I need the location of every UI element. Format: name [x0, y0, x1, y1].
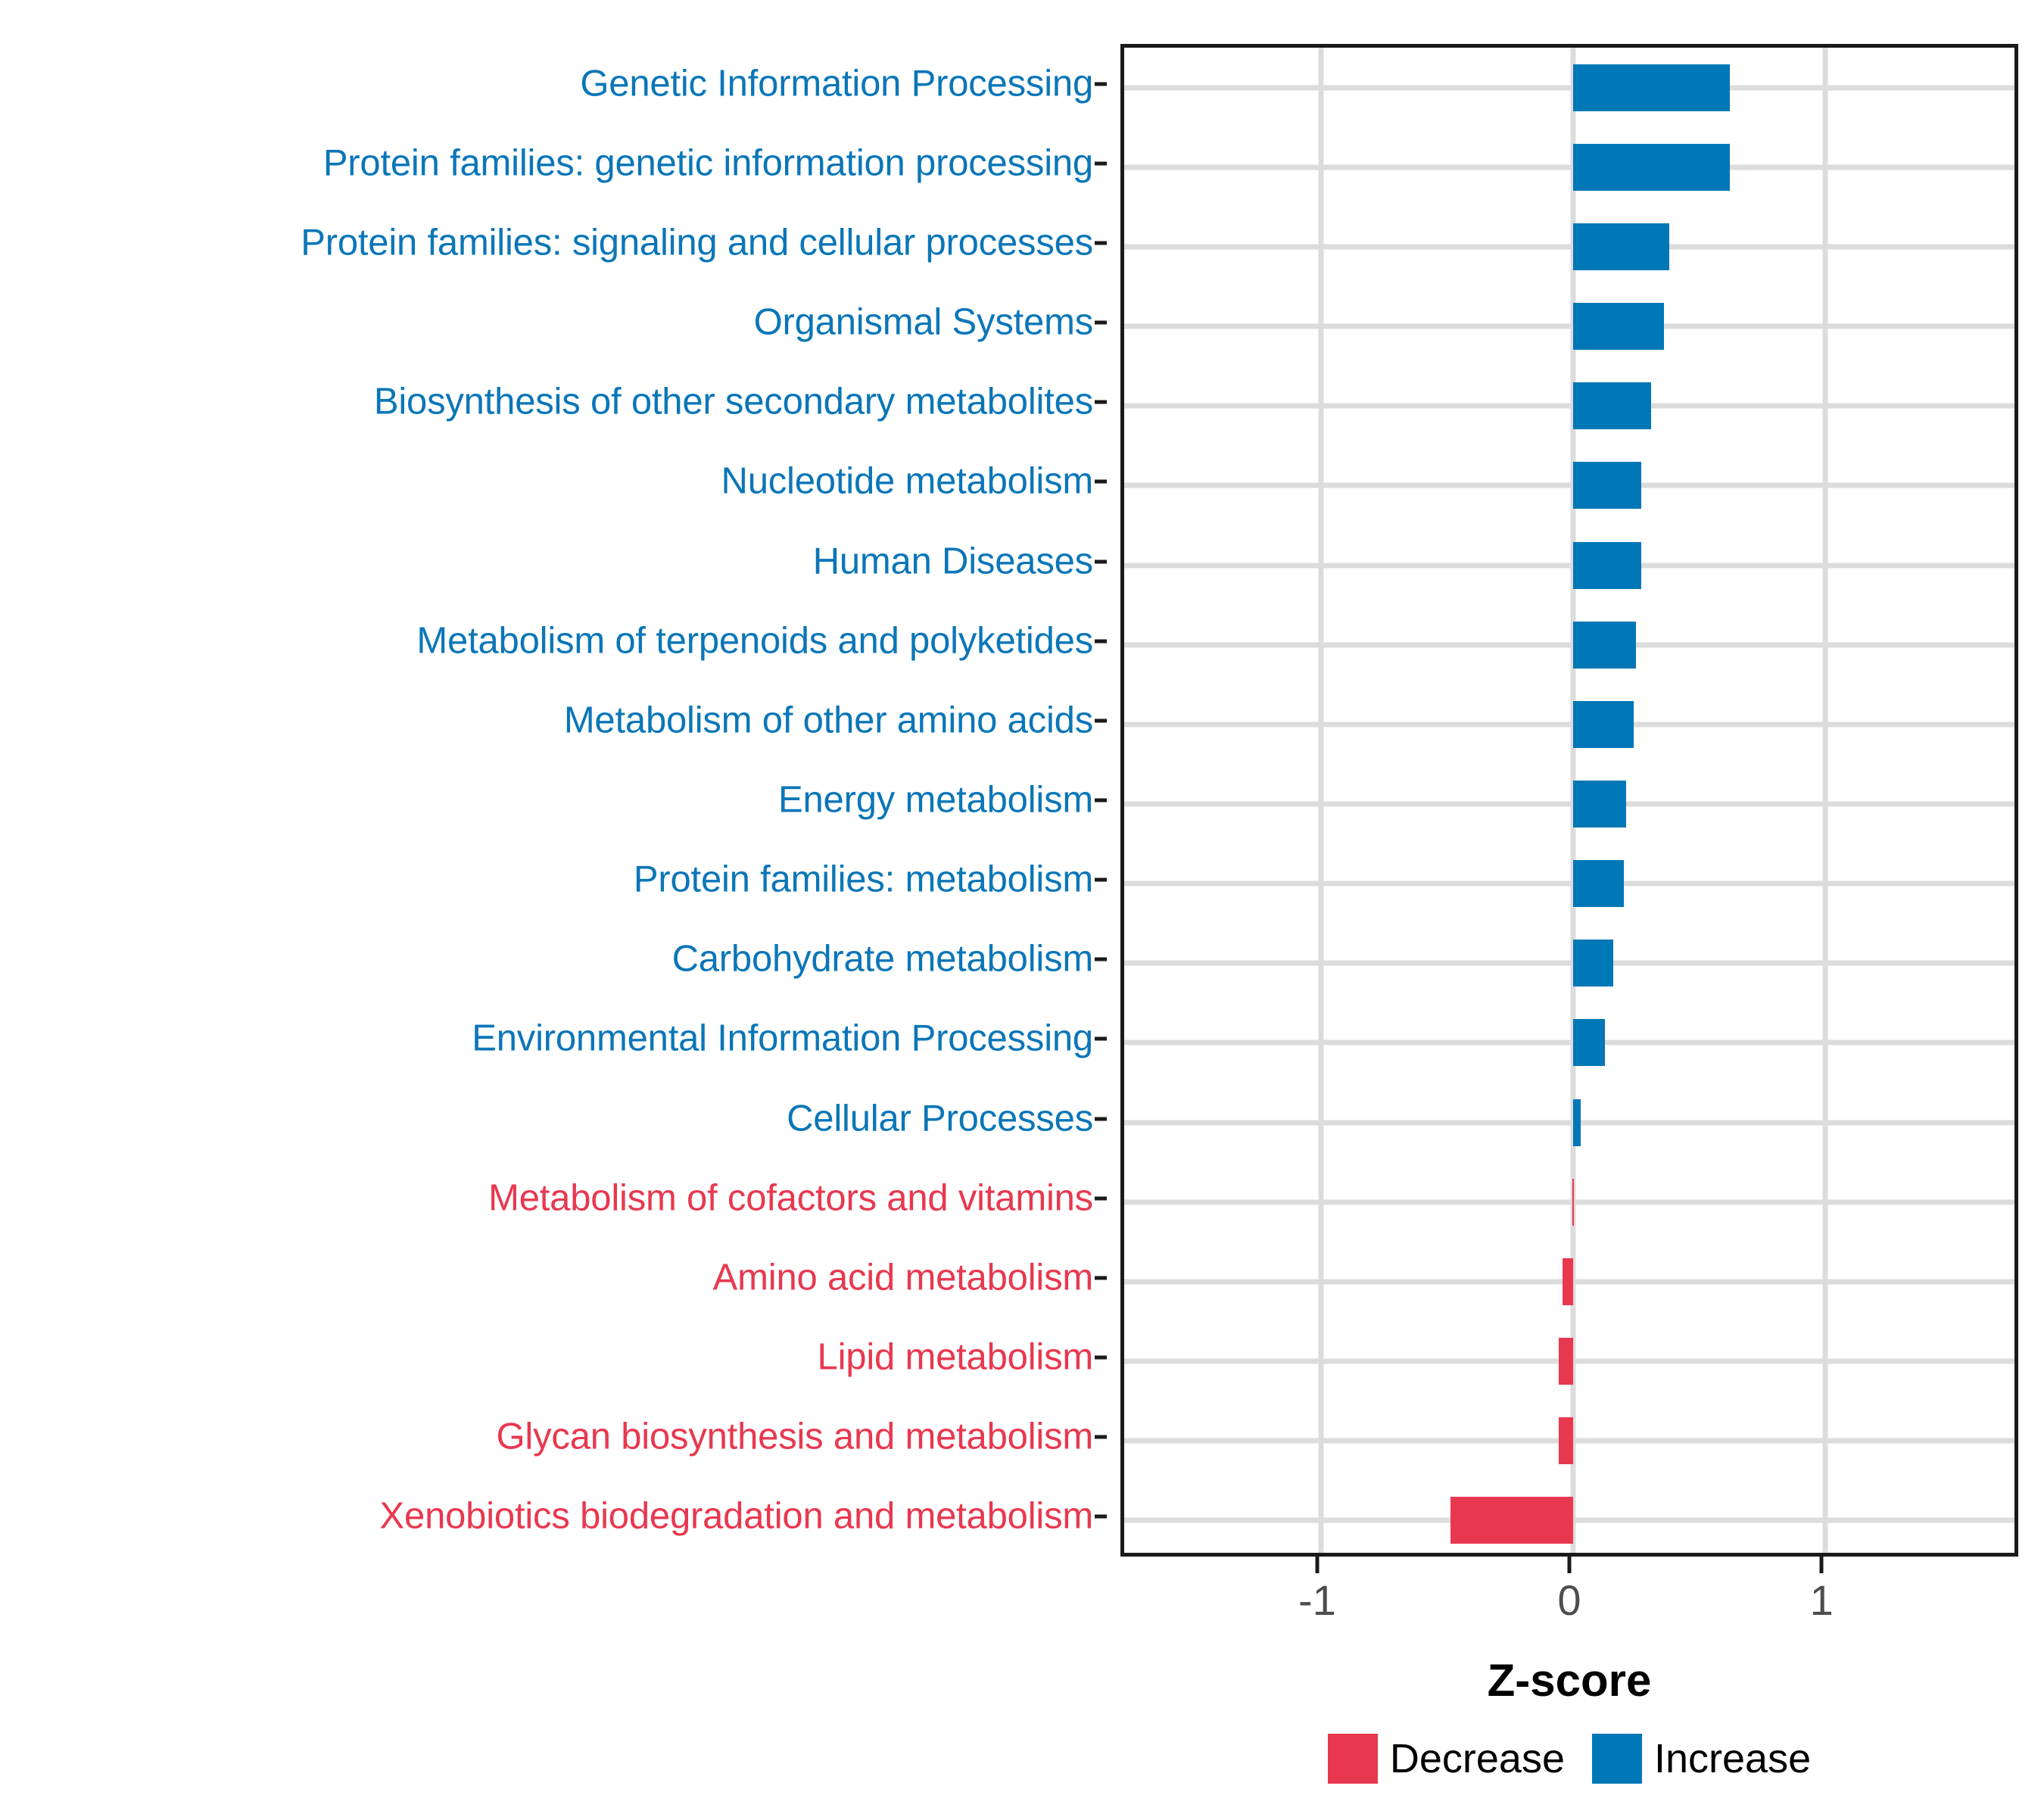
y-axis-tick-mark	[1095, 559, 1107, 563]
y-axis-tick-mark	[1095, 878, 1107, 882]
legend-label: Increase	[1654, 1738, 1811, 1779]
y-axis-tick-label: Biosynthesis of other secondary metaboli…	[374, 384, 1093, 421]
gridline-horizontal	[1124, 642, 2014, 647]
y-axis-tick-label: Cellular Processes	[787, 1100, 1093, 1137]
y-axis-tick-mark	[1095, 1037, 1107, 1041]
y-axis-tick-label: Genetic Information Processing	[580, 65, 1093, 102]
bar[interactable]	[1573, 701, 1634, 748]
gridline-horizontal	[1124, 722, 2014, 727]
y-axis-tick-mark	[1095, 241, 1107, 245]
plot-panel	[1120, 44, 2018, 1557]
bar[interactable]	[1573, 223, 1669, 270]
bar[interactable]	[1573, 382, 1651, 429]
y-axis-tick-label: Human Diseases	[813, 543, 1093, 580]
y-axis-tick-mark	[1095, 1196, 1107, 1200]
y-axis-tick-label: Protein families: metabolism	[634, 862, 1093, 899]
y-axis-tick-label: Lipid metabolism	[818, 1339, 1093, 1376]
bar[interactable]	[1573, 1019, 1605, 1066]
bar[interactable]	[1573, 940, 1613, 986]
gridline-horizontal	[1124, 324, 2014, 329]
y-axis-tick-mark	[1095, 321, 1107, 325]
plot-area	[1124, 48, 2014, 1553]
x-axis: -101	[1120, 1557, 2018, 1655]
legend-label: Decrease	[1390, 1738, 1565, 1779]
gridline-horizontal	[1124, 85, 2014, 90]
x-axis-tick-label: -1	[1298, 1579, 1336, 1622]
x-axis-tick-label: 1	[1810, 1579, 1834, 1622]
legend-item[interactable]: Increase	[1592, 1734, 1811, 1784]
bar[interactable]	[1559, 1417, 1573, 1464]
gridline-horizontal	[1124, 881, 2014, 887]
y-axis-tick-mark	[1095, 718, 1107, 722]
x-axis-tick-label: 0	[1557, 1579, 1581, 1622]
y-axis-tick-label: Metabolism of cofactors and vitamins	[488, 1180, 1093, 1217]
bar[interactable]	[1450, 1497, 1573, 1544]
y-axis-tick-label: Metabolism of terpenoids and polyketides	[416, 622, 1093, 659]
y-axis-tick-label: Organismal Systems	[754, 304, 1093, 341]
x-axis-tick-mark	[1315, 1557, 1319, 1573]
bar[interactable]	[1573, 462, 1641, 509]
y-axis-tick-label: Glycan biosynthesis and metabolism	[497, 1419, 1093, 1456]
bar[interactable]	[1559, 1338, 1573, 1385]
y-axis-tick-label: Energy metabolism	[778, 782, 1093, 819]
legend-swatch-icon	[1592, 1734, 1642, 1784]
bar[interactable]	[1573, 542, 1641, 589]
chart-legend: DecreaseIncrease	[1120, 1734, 2018, 1784]
y-axis-tick-label: Protein families: signaling and cellular…	[301, 224, 1093, 261]
x-axis-tick-mark	[1568, 1557, 1572, 1573]
gridline-horizontal	[1124, 483, 2014, 488]
y-axis-tick-label: Carbohydrate metabolism	[672, 941, 1093, 978]
bar[interactable]	[1572, 1179, 1574, 1226]
bar[interactable]	[1573, 860, 1624, 907]
y-axis-tick-mark	[1095, 958, 1107, 961]
gridline-horizontal	[1124, 563, 2014, 568]
y-axis-tick-label: Metabolism of other amino acids	[564, 702, 1093, 739]
y-axis-tick-label: Protein families: genetic information pr…	[323, 145, 1093, 182]
y-axis-tick-mark	[1095, 1515, 1107, 1519]
chart-figure: Genetic Information ProcessingProtein fa…	[0, 0, 2044, 1817]
y-axis-tick-mark	[1095, 82, 1107, 86]
y-axis-tick-label: Environmental Information Processing	[472, 1021, 1093, 1058]
y-axis-category-labels: Genetic Information ProcessingProtein fa…	[0, 44, 1107, 1554]
y-axis-tick-mark	[1095, 1276, 1107, 1279]
bar[interactable]	[1573, 64, 1730, 111]
gridline-horizontal	[1124, 961, 2014, 966]
bar[interactable]	[1573, 1099, 1581, 1146]
gridline-horizontal	[1124, 1040, 2014, 1046]
gridline-vertical	[1318, 48, 1323, 1553]
gridline-horizontal	[1124, 164, 2014, 170]
y-axis-tick-mark	[1095, 1356, 1107, 1360]
y-axis-tick-mark	[1095, 1435, 1107, 1439]
bar[interactable]	[1573, 622, 1636, 669]
bar[interactable]	[1563, 1258, 1573, 1305]
bar[interactable]	[1573, 144, 1730, 191]
gridline-horizontal	[1124, 1120, 2014, 1125]
legend-swatch-icon	[1328, 1734, 1378, 1784]
bar[interactable]	[1573, 303, 1664, 350]
x-axis-title: Z-score	[1120, 1658, 2018, 1703]
gridline-horizontal	[1124, 802, 2014, 807]
gridline-horizontal	[1124, 404, 2014, 409]
y-axis-tick-label: Amino acid metabolism	[713, 1259, 1093, 1296]
x-axis-tick-mark	[1820, 1557, 1824, 1573]
legend-item[interactable]: Decrease	[1328, 1734, 1565, 1784]
y-axis-tick-mark	[1095, 161, 1107, 165]
gridline-horizontal	[1124, 244, 2014, 249]
gridline-vertical	[1823, 48, 1828, 1553]
y-axis-tick-mark	[1095, 799, 1107, 803]
bar[interactable]	[1573, 781, 1626, 827]
y-axis-tick-mark	[1095, 639, 1107, 643]
y-axis-tick-mark	[1095, 400, 1107, 404]
y-axis-tick-label: Xenobiotics biodegradation and metabolis…	[380, 1498, 1093, 1535]
y-axis-tick-mark	[1095, 480, 1107, 484]
y-axis-tick-label: Nucleotide metabolism	[721, 463, 1093, 500]
y-axis-tick-mark	[1095, 1117, 1107, 1120]
gridline-horizontal	[1124, 1199, 2014, 1205]
